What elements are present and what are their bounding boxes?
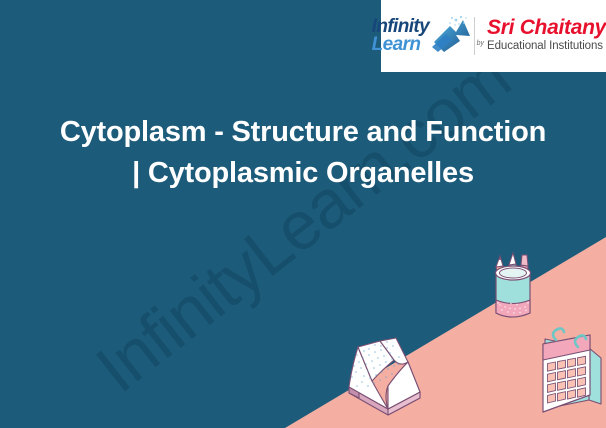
infinity-learn-wordmark: Infinity Learn xyxy=(372,18,429,54)
sri-chaitanya-subtitle: Educational Institutions xyxy=(487,40,606,52)
infinity-learn-logo[interactable]: Infinity Learn xyxy=(370,10,466,62)
sri-chaitanya-logo[interactable]: Sri Chaitanya Educational Institutions xyxy=(487,17,606,54)
logo-divider xyxy=(474,17,475,55)
logo-connector-by: by xyxy=(477,40,484,47)
arrow-swoosh-icon xyxy=(430,14,472,54)
sri-chaitanya-name: Sri Chaitanya xyxy=(487,17,606,39)
title-line-2: | Cytoplasmic Organelles xyxy=(14,153,592,194)
learn-word: Learn xyxy=(372,36,429,54)
title-line-1: Cytoplasm - Structure and Function xyxy=(14,112,592,153)
page-title: Cytoplasm - Structure and Function | Cyt… xyxy=(0,112,606,194)
banner: InfinityLearn.com xyxy=(0,0,606,428)
logo-lockup[interactable]: Infinity Learn by xyxy=(381,0,606,72)
